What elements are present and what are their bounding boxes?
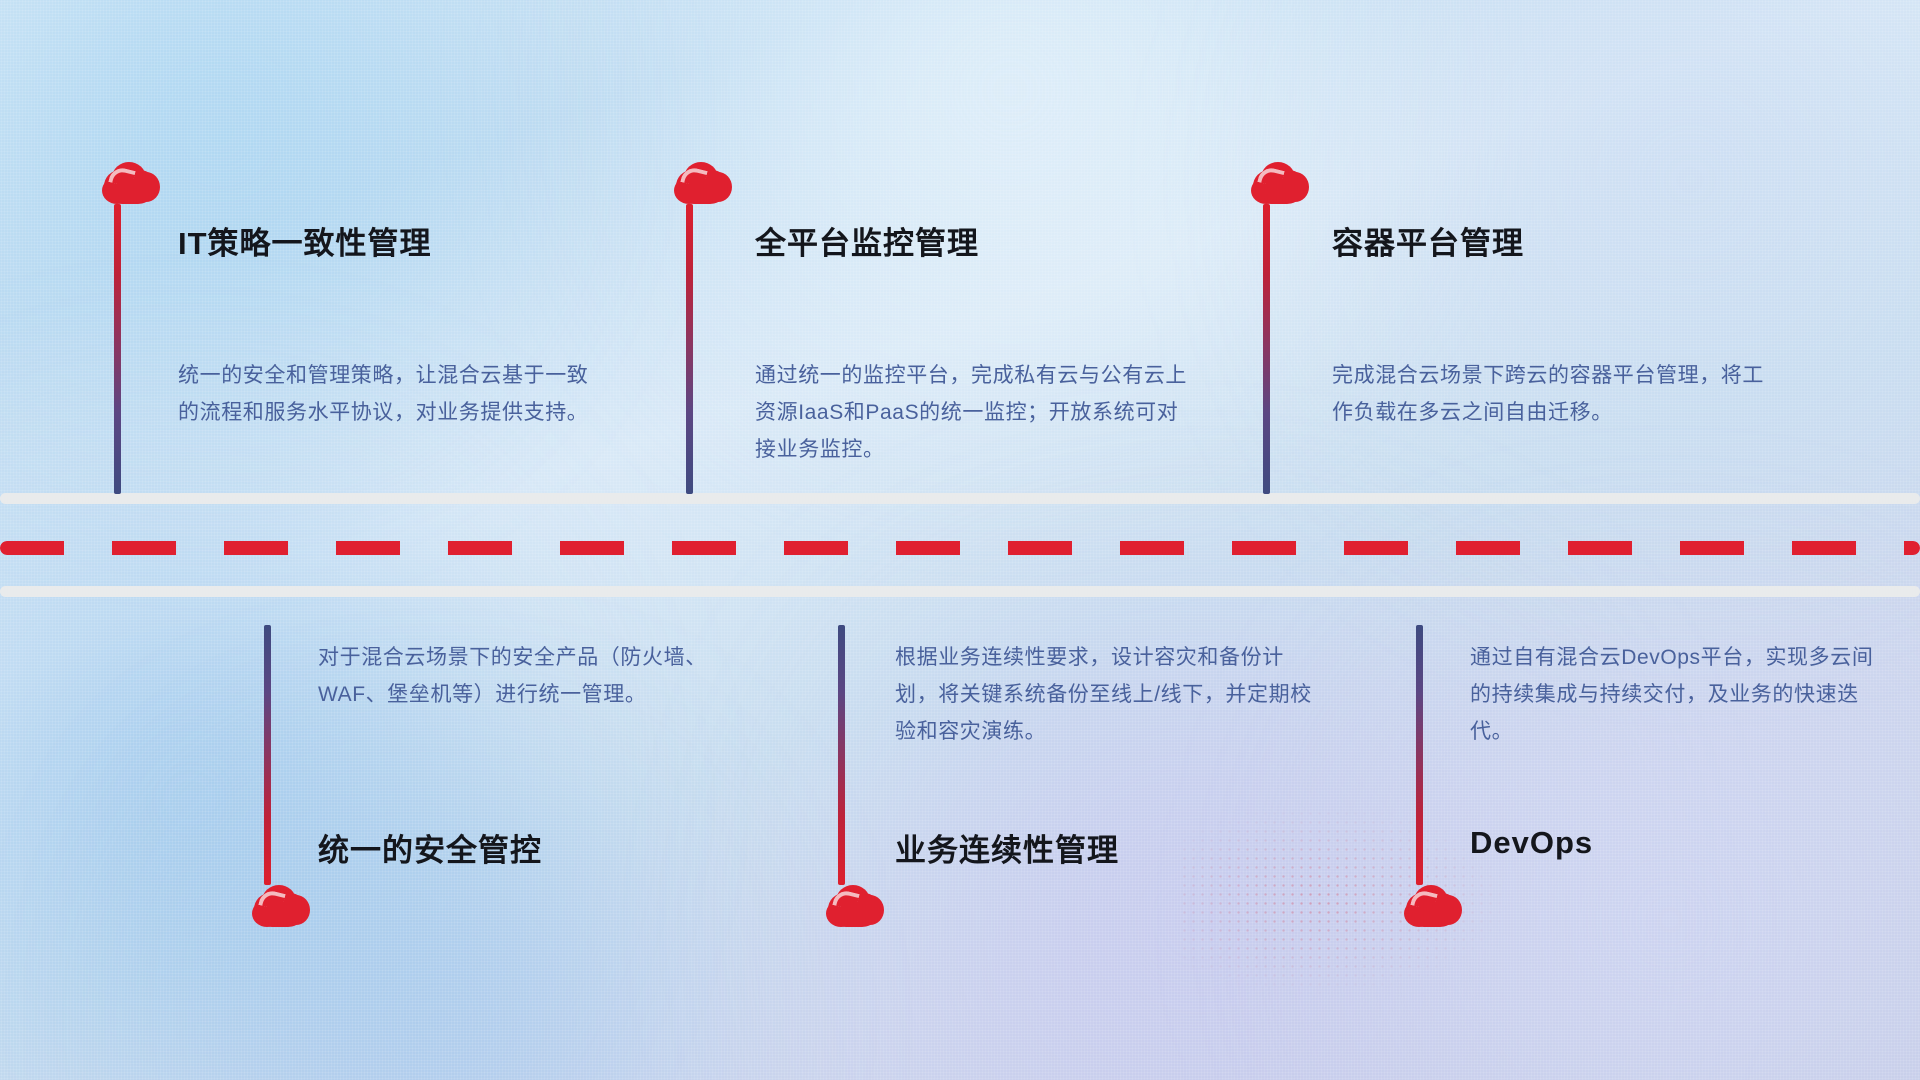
pin-stem <box>264 625 271 885</box>
pin-stem <box>1416 625 1423 885</box>
card-description-bottom-3: 通过自有混合云DevOps平台，实现多云间的持续集成与持续交付，及业务的快速迭代… <box>1470 639 1890 750</box>
pin-bottom-2 <box>822 625 892 927</box>
pin-top-3 <box>1247 160 1317 494</box>
road-edge-top <box>0 493 1920 504</box>
card-title-bottom-1: 统一的安全管控 <box>318 825 542 870</box>
card-description-bottom-1: 对于混合云场景下的安全产品（防火墙、WAF、堡垒机等）进行统一管理。 <box>318 639 738 713</box>
card-description-top-2: 通过统一的监控平台，完成私有云与公有云上资源IaaS和PaaS的统一监控；开放系… <box>755 357 1187 468</box>
pin-top-1 <box>98 160 168 494</box>
pin-stem <box>1263 204 1270 494</box>
card-title-top-1: IT策略一致性管理 <box>178 218 432 263</box>
card-description-top-1: 统一的安全和管理策略，让混合云基于一致的流程和服务水平协议，对业务提供支持。 <box>178 357 596 431</box>
pin-bottom-3 <box>1400 625 1470 927</box>
infographic-canvas: IT策略一致性管理 统一的安全和管理策略，让混合云基于一致的流程和服务水平协议，… <box>0 0 1920 1080</box>
pin-stem <box>114 204 121 494</box>
road-edge-bottom <box>0 586 1920 597</box>
card-title-top-2: 全平台监控管理 <box>755 218 979 263</box>
cloud-icon <box>822 883 886 927</box>
card-description-top-3: 完成混合云场景下跨云的容器平台管理，将工作负载在多云之间自由迁移。 <box>1332 357 1764 431</box>
pin-top-2 <box>670 160 740 494</box>
card-title-bottom-3: DevOps <box>1470 825 1593 861</box>
road-center-dashed-line <box>0 541 1920 555</box>
cloud-icon <box>248 883 312 927</box>
pin-stem <box>838 625 845 885</box>
cloud-icon <box>98 160 162 204</box>
cloud-icon <box>1247 160 1311 204</box>
cloud-icon <box>670 160 734 204</box>
card-title-bottom-2: 业务连续性管理 <box>895 825 1119 870</box>
pin-stem <box>686 204 693 494</box>
cloud-icon <box>1400 883 1464 927</box>
card-description-bottom-2: 根据业务连续性要求，设计容灾和备份计划，将关键系统备份至线上/线下，并定期校验和… <box>895 639 1315 750</box>
pin-bottom-1 <box>248 625 318 927</box>
card-title-top-3: 容器平台管理 <box>1332 218 1524 263</box>
